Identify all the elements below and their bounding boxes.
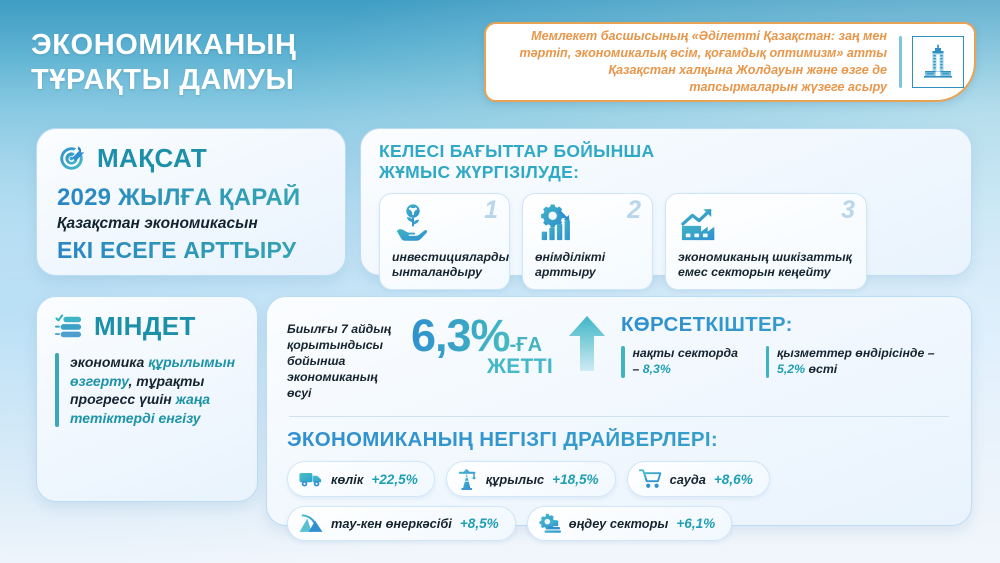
kpi-title: КӨРСЕТКІШТЕР: <box>621 313 951 337</box>
kpi-item-text: қызметтер өндірісінде – 5,2% өсті <box>777 346 951 378</box>
driver-label: құрылыс <box>486 472 544 487</box>
kpi-block: КӨРСЕТКІШТЕР: нақты секторда – 8,3% қызм… <box>613 313 951 378</box>
hand-plant-tenge-icon <box>392 203 497 243</box>
drivers-row-2: тау-кен өнеркәсібі +8,5% <box>287 506 951 541</box>
growth-caption: Биылғы 7 айдың қорытындысы бойынша эконо… <box>287 313 405 402</box>
address-banner: Мемлекет басшысының «Әділетті Қазақстан:… <box>484 22 976 102</box>
growth-percent-suffix: -ҒА <box>510 335 542 355</box>
driver-value: +8,5% <box>460 516 499 531</box>
drivers-row-1: көлік +22,5% <box>287 461 951 497</box>
driver-pill-mining[interactable]: тау-кен өнеркәсібі +8,5% <box>287 506 516 541</box>
banner-divider <box>899 36 902 88</box>
growth-statistic-row: Биылғы 7 айдың қорытындысы бойынша эконо… <box>287 313 951 402</box>
kpi-item-services: қызметтер өндірісінде – 5,2% өсті <box>766 346 951 378</box>
crane-icon <box>458 468 478 490</box>
task-card-body: экономика құрылымын өзгерту, тұрақты про… <box>55 353 239 427</box>
task-card-text: экономика құрылымын өзгерту, тұрақты про… <box>70 353 239 427</box>
direction-label: экономиканың шикізаттық емес секторын ке… <box>678 250 854 281</box>
driver-pill-trade[interactable]: сауда +8,6% <box>627 461 770 497</box>
driver-value: +18,5% <box>552 472 598 487</box>
growth-value-block: 6,3%-ҒА ЖЕТТІ <box>405 313 561 377</box>
goal-line-2: Қазақстан экономикасын <box>57 215 325 233</box>
driver-value: +8,6% <box>714 472 753 487</box>
driver-pill-manufacturing[interactable]: өңдеу секторы +6,1% <box>527 506 733 541</box>
kpi-accent-bar <box>621 346 625 378</box>
directions-card: КЕЛЕСІ БАҒЫТТАР БОЙЫНША ЖҰМЫС ЖҮРГІЗІЛУД… <box>360 128 972 276</box>
task-card-title: МІНДЕТ <box>94 311 196 342</box>
task-accent-bar <box>55 353 59 427</box>
goal-card-header: МАҚСАТ <box>57 143 325 174</box>
government-building-emblem <box>912 36 964 88</box>
driver-pill-transport[interactable]: көлік +22,5% <box>287 461 435 497</box>
driver-value: +22,5% <box>371 472 417 487</box>
truck-icon <box>299 470 323 488</box>
goal-line-1: 2029 ЖЫЛҒА ҚАРАЙ <box>57 184 325 212</box>
kpi-list: нақты секторда – 8,3% қызметтер өндірісі… <box>621 346 951 378</box>
direction-number: 3 <box>841 198 855 223</box>
infographic-page: ЭКОНОМИКАНЫҢ ТҰРАҚТЫ ДАМУЫ Мемлекет басш… <box>0 0 1000 563</box>
directions-list: 1 <box>379 193 955 290</box>
driver-label: көлік <box>331 472 363 487</box>
page-title: ЭКОНОМИКАНЫҢ ТҰРАҚТЫ ДАМУЫ <box>31 28 297 99</box>
direction-item-productivity[interactable]: 2 <box>522 193 653 290</box>
growth-percent-value: 6,3% <box>411 313 510 358</box>
mining-icon <box>299 514 323 534</box>
target-icon <box>57 144 86 173</box>
drivers-title: ЭКОНОМИКАНЫҢ НЕГІЗГІ ДРАЙВЕРЛЕРІ: <box>287 428 951 452</box>
direction-label: инвестицияларды ынталандыру <box>392 250 497 281</box>
task-card: МІНДЕТ экономика құрылымын өзгерту, тұра… <box>36 296 258 502</box>
direction-item-nonresource[interactable]: 3 <box>665 193 867 290</box>
kpi-item-text: нақты секторда – 8,3% <box>633 346 748 378</box>
up-arrow-icon <box>561 313 613 373</box>
main-statistics-panel: Биылғы 7 айдың қорытындысы бойынша эконо… <box>266 296 972 526</box>
goal-card-title: МАҚСАТ <box>97 143 207 174</box>
direction-item-investment[interactable]: 1 <box>379 193 510 290</box>
cart-icon <box>639 469 662 489</box>
directions-heading: КЕЛЕСІ БАҒЫТТАР БОЙЫНША ЖҰМЫС ЖҮРГІЗІЛУД… <box>379 141 955 184</box>
gear-bar-chart-icon <box>535 203 640 243</box>
task-card-header: МІНДЕТ <box>55 311 239 342</box>
kpi-item-real-sector: нақты секторда – 8,3% <box>621 346 748 378</box>
goal-line-3: ЕКІ ЕСЕГЕ АРТТЫРУ <box>57 237 325 264</box>
driver-label: сауда <box>670 472 706 487</box>
panel-divider <box>289 416 949 417</box>
machine-icon <box>539 513 561 534</box>
driver-value: +6,1% <box>676 516 715 531</box>
address-banner-text: Мемлекет басшысының «Әділетті Қазақстан:… <box>500 28 899 97</box>
driver-label: өңдеу секторы <box>569 516 669 531</box>
kpi-accent-bar <box>766 346 770 378</box>
driver-pill-construction[interactable]: құрылыс +18,5% <box>446 461 616 497</box>
goal-card: МАҚСАТ 2029 ЖЫЛҒА ҚАРАЙ Қазақстан эконом… <box>36 128 346 276</box>
driver-label: тау-кен өнеркәсібі <box>331 516 452 531</box>
direction-number: 1 <box>484 198 498 223</box>
direction-label: өнімділікті арттыру <box>535 250 640 281</box>
direction-number: 2 <box>627 198 641 223</box>
checklist-icon <box>55 313 83 340</box>
factory-growth-icon <box>678 203 854 243</box>
